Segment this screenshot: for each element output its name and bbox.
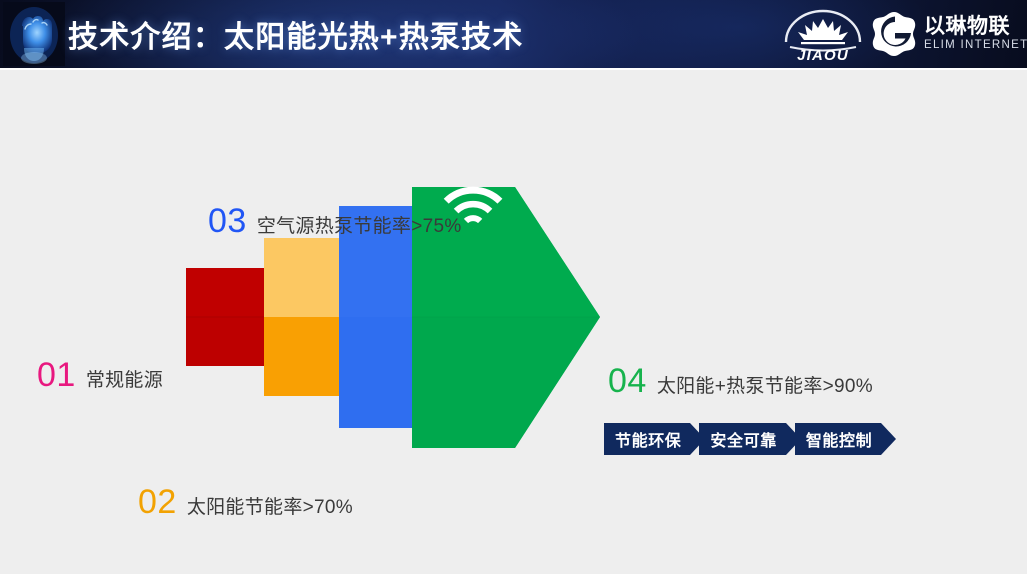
elim-logo-en: ELIM INTERNET [924,40,1027,52]
feature-badge-label: 节能环保 [615,427,681,451]
step-text-01: 常规能源 [86,365,163,392]
feature-badge-smart-control: 智能控制 [795,423,881,455]
step-text-03: 空气源热泵节能率>75% [257,211,462,238]
step-text-02: 太阳能节能率>70% [187,492,353,519]
step-label-04: 04 太阳能+热泵节能率>90% [608,362,873,401]
chevron-step-01 [186,268,318,367]
fist-emblem-icon [3,2,65,66]
step-number-03: 03 [208,202,247,241]
step-text-04: 太阳能+热泵节能率>90% [657,371,873,398]
elim-g-mark-icon [871,11,917,57]
page-title: 技术介绍：太阳能光热+热泵技术 [68,12,524,56]
step-label-02: 02 太阳能节能率>70% [138,483,353,522]
slide-canvas: 技术介绍：太阳能光热+热泵技术 JIAOU 以琳物联 ELIM INTERNET [0,0,1027,579]
feature-badge-label: 安全可靠 [710,427,776,451]
step-label-01: 01 常规能源 [37,356,163,395]
slide-body: 01 常规能源 02 太阳能节能率>70% 03 空气源热泵节能率>75% 04… [0,68,1027,579]
step-label-03: 03 空气源热泵节能率>75% [208,202,462,241]
step-number-01: 01 [37,356,76,395]
elim-logo: 以琳物联 ELIM INTERNET [871,8,1019,60]
slide-header: 技术介绍：太阳能光热+热泵技术 JIAOU 以琳物联 ELIM INTERNET [0,0,1027,68]
feature-badge-group: 节能环保 安全可靠 智能控制 [604,423,881,455]
feature-badge-safe-reliable: 安全可靠 [699,423,785,455]
step-number-02: 02 [138,483,177,522]
svg-text:JIAOU: JIAOU [797,47,849,62]
elim-logo-cn: 以琳物联 [924,16,1027,37]
jiaou-logo: JIAOU [777,7,869,62]
step-number-04: 04 [608,362,647,401]
feature-badge-label: 智能控制 [806,427,872,451]
feature-badge-energy-saving: 节能环保 [604,423,690,455]
chevron-step-02 [264,238,424,396]
